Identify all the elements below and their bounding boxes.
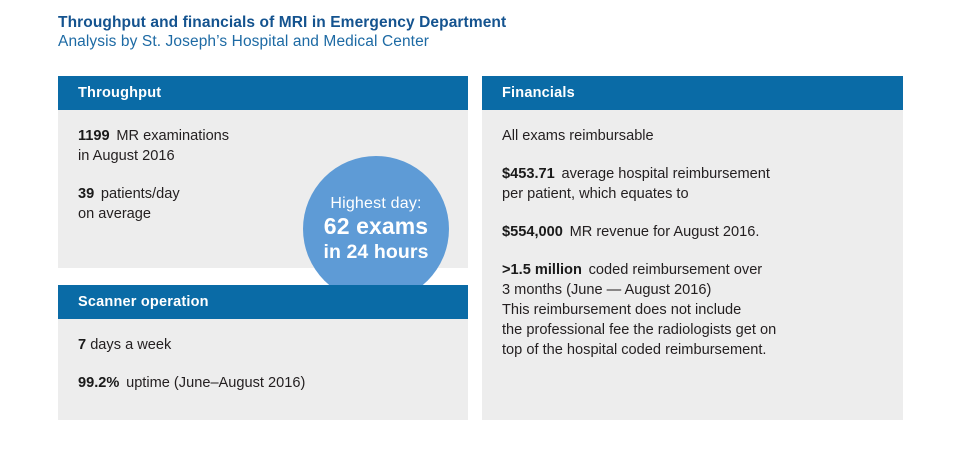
stat-patients-per-day-label: patients/day <box>101 186 180 202</box>
panel-throughput-header: Throughput <box>58 76 468 110</box>
panel-financials-body: All exams reimbursable $453.71 average h… <box>482 110 903 360</box>
page-subtitle: Analysis by St. Joseph’s Hospital and Me… <box>58 32 898 52</box>
stat-mr-examinations-value: 1199 <box>78 128 110 144</box>
stat-coded-reimbursement-value: >1.5 million <box>502 262 582 278</box>
stat-average-reimbursement: $453.71 average hospital reimbursement p… <box>502 164 883 204</box>
spacer <box>94 186 101 202</box>
stat-uptime: 99.2% uptime (June–August 2016) <box>78 373 328 393</box>
highest-day-label: Highest day: <box>330 194 421 213</box>
stat-days-a-week-label: days a week <box>90 337 171 353</box>
stat-uptime-label: uptime (June–August 2016) <box>126 375 305 391</box>
page-title: Throughput and financials of MRI in Emer… <box>58 13 898 32</box>
stat-all-exams-reimbursable: All exams reimbursable <box>502 126 883 146</box>
panel-scanner-header: Scanner operation <box>58 285 468 319</box>
stat-coded-reimbursement-label4: the professional fee the radiologists ge… <box>502 322 776 338</box>
highest-day-period: in 24 hours <box>323 240 428 264</box>
stat-mr-revenue-label: MR revenue for August 2016. <box>570 224 760 240</box>
spacer <box>563 224 570 240</box>
stat-mr-examinations-label: MR examinations <box>116 128 229 144</box>
stat-all-exams-reimbursable-label: All exams reimbursable <box>502 128 654 144</box>
stat-patients-per-day: 39 patients/day on average <box>78 184 328 224</box>
stat-mr-revenue-value: $554,000 <box>502 224 563 240</box>
stat-mr-revenue: $554,000 MR revenue for August 2016. <box>502 222 883 242</box>
highest-day-circle: Highest day: 62 exams in 24 hours <box>303 156 449 302</box>
panel-scanner-operation: Scanner operation 7 days a week 99.2% up… <box>58 285 468 420</box>
stat-average-reimbursement-value: $453.71 <box>502 166 555 182</box>
infographic-page: Throughput and financials of MRI in Emer… <box>0 0 960 451</box>
spacer <box>582 262 589 278</box>
panel-scanner-title: Scanner operation <box>78 294 209 310</box>
stat-days-a-week-value: 7 <box>78 337 86 353</box>
highest-day-value: 62 exams <box>324 213 428 240</box>
stat-coded-reimbursement: >1.5 million coded reimbursement over 3 … <box>502 260 883 360</box>
stat-days-a-week: 7 days a week <box>78 335 328 355</box>
stat-coded-reimbursement-label5: top of the hospital coded reimbursement. <box>502 342 766 358</box>
panel-financials-title: Financials <box>502 85 575 101</box>
page-heading: Throughput and financials of MRI in Emer… <box>58 13 898 52</box>
panel-throughput-title: Throughput <box>78 85 161 101</box>
stat-uptime-value: 99.2% <box>78 375 119 391</box>
panel-scanner-body: 7 days a week 99.2% uptime (June–August … <box>58 319 468 393</box>
panel-financials: Financials All exams reimbursable $453.7… <box>482 76 903 420</box>
stat-coded-reimbursement-label: coded reimbursement over <box>589 262 763 278</box>
stat-patients-per-day-label2: on average <box>78 206 151 222</box>
stat-mr-examinations: 1199 MR examinations in August 2016 <box>78 126 328 166</box>
stat-coded-reimbursement-label2: 3 months (June — August 2016) <box>502 282 711 298</box>
stat-average-reimbursement-label: average hospital reimbursement <box>561 166 769 182</box>
panel-throughput: Throughput 1199 MR examinations in Augus… <box>58 76 468 268</box>
stat-patients-per-day-value: 39 <box>78 186 94 202</box>
stat-coded-reimbursement-label3: This reimbursement does not include <box>502 302 741 318</box>
panel-throughput-body: 1199 MR examinations in August 2016 39 p… <box>58 110 468 224</box>
stat-average-reimbursement-label2: per patient, which equates to <box>502 186 689 202</box>
stat-mr-examinations-label2: in August 2016 <box>78 148 175 164</box>
panel-financials-header: Financials <box>482 76 903 110</box>
